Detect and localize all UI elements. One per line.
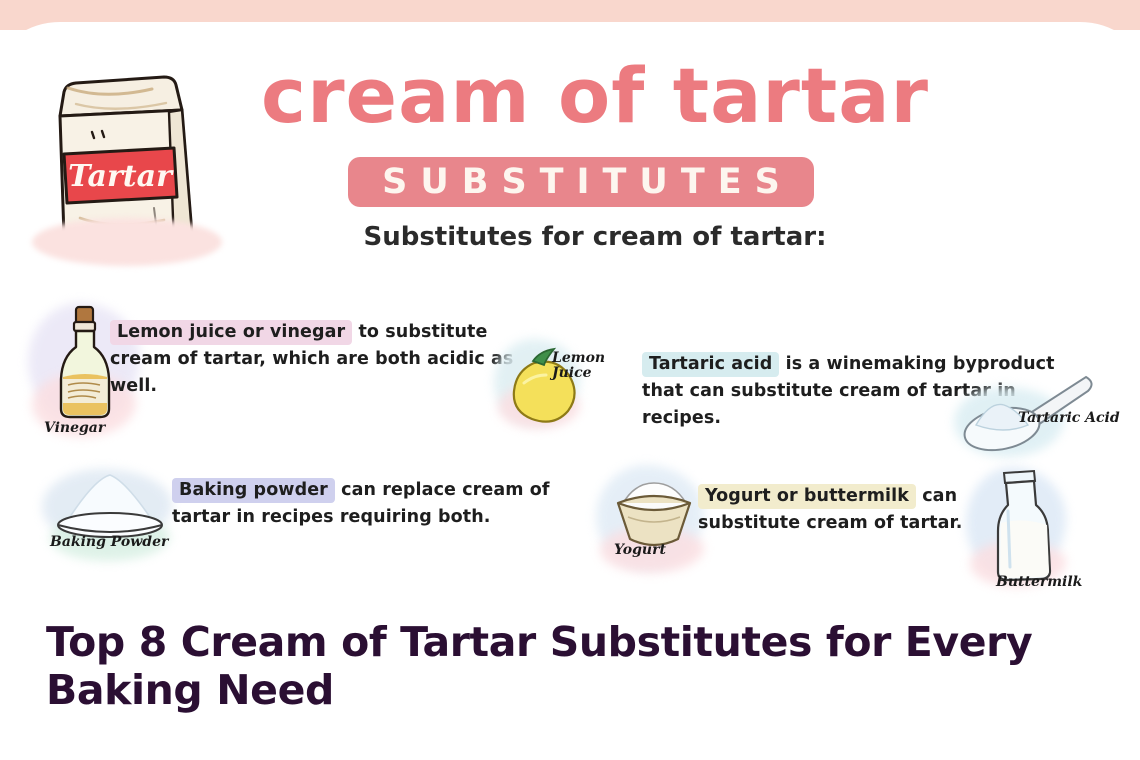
tartaric-acid-label: Tartaric Acid <box>1018 411 1120 426</box>
bag-label-text: Tartar <box>68 159 174 194</box>
baking-powder-label: Baking Powder <box>50 535 168 550</box>
infographic-header: Tartar cream of tartar SUBSTITUTES Subst… <box>0 30 1140 280</box>
article-headline: Top 8 Cream of Tartar Substitutes for Ev… <box>46 618 1066 715</box>
item-baking-powder-text: Baking powder can replace cream of tarta… <box>172 477 572 531</box>
buttermilk-label: Buttermilk <box>996 575 1082 590</box>
infographic-card: Tartar cream of tartar SUBSTITUTES Subst… <box>0 30 1140 600</box>
substitute-items: Vinegar Lemon juice or vinegar to substi… <box>0 285 1140 600</box>
page-title: cream of tartar <box>235 58 955 134</box>
subtitles-banner: SUBSTITUTES <box>348 157 814 207</box>
item-lemon-vinegar: Vinegar Lemon juice or vinegar to substi… <box>24 303 644 443</box>
item-yogurt-buttermilk-text: Yogurt or buttermilk can substitute crea… <box>698 483 968 537</box>
subtitles-banner-label: SUBSTITUTES <box>348 157 814 207</box>
item-baking-powder: Baking Powder Baking powder can replace … <box>24 465 584 585</box>
header-caption: Substitutes for cream of tartar: <box>235 222 955 252</box>
page-root: Tartar cream of tartar SUBSTITUTES Subst… <box>0 0 1140 760</box>
highlight-lemon-vinegar: Lemon juice or vinegar <box>110 320 352 345</box>
vinegar-label: Vinegar <box>44 421 105 436</box>
item-lemon-vinegar-text: Lemon juice or vinegar to substitute cre… <box>110 319 530 400</box>
item-yogurt-buttermilk: Yogurt Yogurt or buttermilk can substitu… <box>590 465 1110 600</box>
highlight-yogurt-buttermilk: Yogurt or buttermilk <box>698 484 916 509</box>
lemon-juice-label: Lemon Juice <box>552 351 605 382</box>
tartar-bag-illustration: Tartar <box>24 58 234 268</box>
highlight-baking-powder: Baking powder <box>172 478 335 503</box>
yogurt-label: Yogurt <box>614 543 666 558</box>
item-tartaric-acid: Tartaric acid is a winemaking byproduct … <box>626 303 1126 453</box>
highlight-tartaric-acid: Tartaric acid <box>642 352 779 377</box>
bag-shadow <box>32 218 222 266</box>
buttermilk-bottle-icon <box>978 467 1062 585</box>
